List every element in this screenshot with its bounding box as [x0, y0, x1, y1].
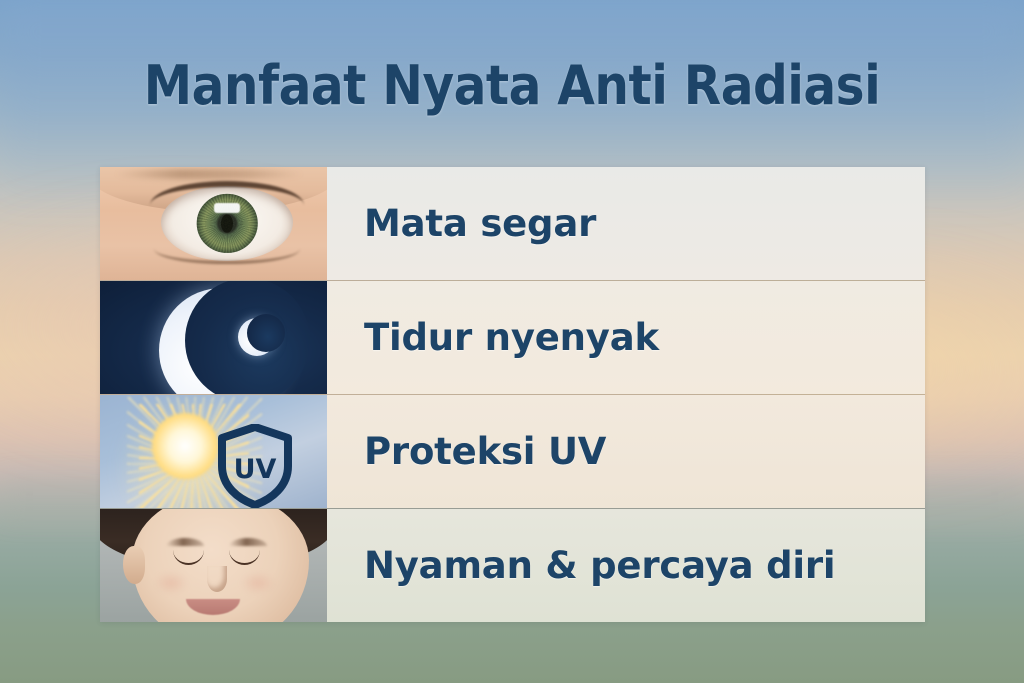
sun-uv-shield-image: UV — [100, 395, 327, 508]
benefit-label: Mata segar — [327, 167, 925, 280]
benefit-row[interactable]: UV Proteksi UV — [100, 394, 925, 508]
eye-closeup-image — [100, 167, 327, 280]
benefit-row[interactable]: Nyaman & percaya diri — [100, 508, 925, 622]
crescent-moon-image — [100, 281, 327, 394]
serene-face-image — [100, 509, 327, 622]
benefit-row[interactable]: Mata segar — [100, 167, 925, 280]
benefit-label: Nyaman & percaya diri — [327, 509, 925, 622]
infographic-canvas: Manfaat Nyata Anti Radiasi Mata segar — [0, 0, 1024, 683]
benefit-label: Tidur nyenyak — [327, 281, 925, 394]
benefit-label: Proteksi UV — [327, 395, 925, 508]
benefits-panel: Mata segar Tidur nyenyak — [100, 167, 925, 622]
benefit-row[interactable]: Tidur nyenyak — [100, 280, 925, 394]
uv-shield-icon: UV — [218, 424, 292, 508]
uv-badge-text: UV — [234, 454, 277, 485]
page-title: Manfaat Nyata Anti Radiasi — [0, 58, 1024, 115]
